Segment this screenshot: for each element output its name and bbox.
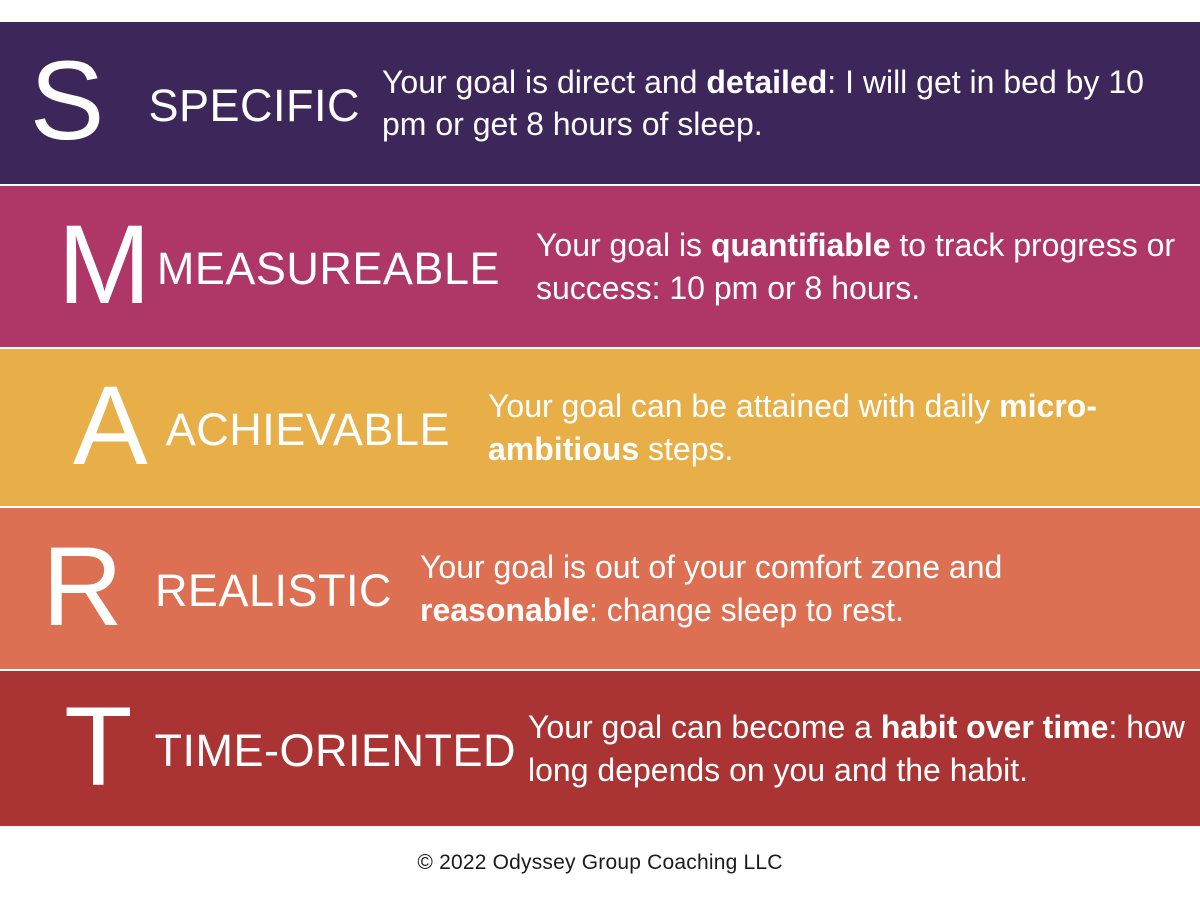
smart-row-specific: S SPECIFIC Your goal is direct and detai…	[0, 22, 1200, 184]
row-label-measureable: MEASUREABLE	[157, 246, 500, 291]
row-left-cluster-realistic: R REALISTIC	[0, 537, 392, 640]
row-left-cluster-specific: S SPECIFIC	[0, 51, 360, 154]
footer: © 2022 Odyssey Group Coaching LLC	[0, 826, 1200, 900]
row-description-specific: Your goal is direct and detailed: I will…	[360, 61, 1160, 145]
initial-letter-t: T	[64, 695, 132, 798]
row-left-cluster-time-oriented: T TIME-ORIENTED	[0, 697, 516, 800]
row-left-cluster-measureable: M MEASUREABLE	[0, 215, 500, 318]
row-label-time-oriented: TIME-ORIENTED	[155, 728, 517, 773]
row-description-realistic: Your goal is out of your comfort zone an…	[392, 546, 1182, 630]
row-label-realistic: REALISTIC	[155, 568, 392, 613]
row-description-measureable: Your goal is quantifiable to track progr…	[500, 224, 1180, 308]
initial-letter-a: A	[73, 374, 148, 477]
row-left-cluster-achievable: A ACHIEVABLE	[0, 376, 450, 479]
initial-letter-m: M	[58, 213, 151, 316]
row-description-achievable: Your goal can be attained with daily mic…	[450, 385, 1180, 469]
smart-row-realistic: R REALISTIC Your goal is out of your com…	[0, 508, 1200, 669]
row-description-time-oriented: Your goal can become a habit over time: …	[516, 706, 1188, 790]
row-label-achievable: ACHIEVABLE	[166, 407, 450, 452]
initial-letter-r: R	[42, 535, 123, 638]
smart-goals-infographic: S SPECIFIC Your goal is direct and detai…	[0, 0, 1200, 900]
smart-rows-container: S SPECIFIC Your goal is direct and detai…	[0, 22, 1200, 826]
row-label-specific: SPECIFIC	[148, 83, 360, 128]
smart-row-time-oriented: T TIME-ORIENTED Your goal can become a h…	[0, 671, 1200, 826]
initial-letter-s: S	[30, 49, 105, 152]
copyright-text: © 2022 Odyssey Group Coaching LLC	[417, 851, 782, 875]
smart-row-achievable: A ACHIEVABLE Your goal can be attained w…	[0, 349, 1200, 506]
smart-row-measureable: M MEASUREABLE Your goal is quantifiable …	[0, 186, 1200, 347]
